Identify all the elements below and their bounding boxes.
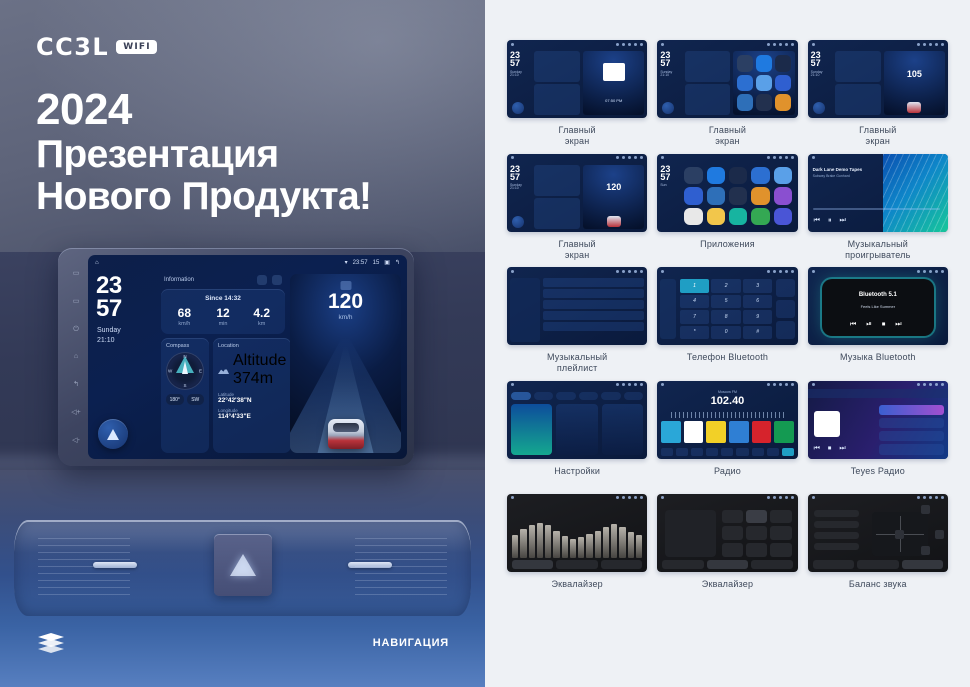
status-icons bbox=[767, 156, 794, 159]
preset-button[interactable] bbox=[770, 526, 791, 540]
equalizer-band[interactable] bbox=[586, 534, 592, 558]
screenshot-thumbnail[interactable]: 2357Sun bbox=[657, 154, 797, 232]
thumb-status-bar bbox=[657, 40, 797, 48]
wifi-icon bbox=[616, 156, 619, 159]
teyes-tabbar[interactable] bbox=[808, 389, 948, 398]
clock-icon bbox=[923, 43, 926, 46]
equalizer-band[interactable] bbox=[529, 525, 535, 557]
screenshot-thumbnail[interactable] bbox=[657, 494, 797, 572]
app-icon bbox=[775, 55, 791, 72]
preset-grid[interactable] bbox=[722, 510, 792, 557]
equalizer-band[interactable] bbox=[520, 529, 526, 558]
gallery-item[interactable]: Баланс звука bbox=[808, 494, 948, 601]
head-unit-side-keys[interactable]: ▭ ▭ ⏻ ⌂ ↰ ◁+ ◁- bbox=[66, 264, 86, 450]
back-icon bbox=[640, 270, 643, 273]
radio-preset[interactable] bbox=[774, 421, 794, 443]
speed-icon bbox=[340, 281, 351, 290]
status-icons bbox=[917, 383, 944, 386]
thumb-info-card bbox=[685, 51, 731, 82]
screenshot-thumbnail[interactable]: 2357Sunday 21:10 07:50 PM bbox=[507, 40, 647, 118]
thumb-status-bar bbox=[657, 381, 797, 389]
screenshot-icon bbox=[634, 156, 637, 159]
more-card[interactable] bbox=[602, 404, 643, 455]
volume-icon bbox=[779, 43, 782, 46]
balance-left-button[interactable] bbox=[895, 530, 904, 539]
screenshot-thumbnail[interactable]: Bluetooth 5.1 Feels Like Summer ⏮ ⏯ ⏹ ⏭ bbox=[808, 267, 948, 345]
gallery-item[interactable]: Музыкальныйплейлист bbox=[507, 267, 647, 375]
compass-widget[interactable]: Compass N E S W bbox=[161, 338, 209, 453]
volume-icon bbox=[929, 43, 932, 46]
track-title: Feels Like Summer bbox=[822, 304, 934, 309]
app-icon[interactable] bbox=[684, 187, 702, 205]
settings-tab[interactable] bbox=[534, 392, 554, 400]
gallery-item[interactable]: 2357Sunday 21:10 Главныйэкран bbox=[657, 40, 797, 148]
equalizer-band[interactable] bbox=[603, 527, 609, 557]
hero-heading: 2024 Презентация Нового Продукта! bbox=[36, 86, 371, 219]
list-icon[interactable] bbox=[272, 275, 282, 285]
balance-front-button[interactable] bbox=[921, 505, 930, 514]
screenshot-thumbnail[interactable] bbox=[507, 494, 647, 572]
thumb-nav-fab bbox=[512, 102, 524, 114]
key-power-icon[interactable]: ⏻ bbox=[73, 326, 79, 333]
status-icons bbox=[616, 43, 643, 46]
equalizer-band[interactable] bbox=[553, 531, 559, 558]
radio-presets[interactable] bbox=[661, 421, 793, 443]
thumb-body: 2357Sunday 21:10 bbox=[657, 48, 797, 118]
hero-footer: НАВИГАЦИЯ bbox=[0, 617, 485, 687]
preset-button[interactable] bbox=[722, 526, 743, 540]
preset-button[interactable] bbox=[722, 543, 743, 557]
status-home-icon[interactable]: ⌂ bbox=[95, 260, 99, 266]
app-icon[interactable] bbox=[774, 167, 792, 185]
app-icon[interactable] bbox=[751, 208, 769, 226]
gallery-item[interactable]: ⏮ ⏹ ⏭ Teyes Радио bbox=[808, 381, 948, 488]
back-icon bbox=[640, 496, 643, 499]
vent-slider-right bbox=[348, 562, 392, 568]
dialpad[interactable]: 123456789*0# bbox=[680, 279, 773, 339]
phone-sidebar[interactable] bbox=[660, 279, 675, 339]
dial-key[interactable]: # bbox=[743, 326, 773, 340]
thumbnail-caption: Эквалайзер bbox=[702, 579, 753, 601]
playlist-row[interactable] bbox=[543, 289, 645, 298]
screenshot-icon bbox=[935, 270, 938, 273]
key-mic-icon[interactable]: ▭ bbox=[73, 270, 80, 277]
previous-icon[interactable]: ⏮ bbox=[814, 217, 820, 225]
back-icon bbox=[791, 270, 794, 273]
gallery-item[interactable]: 2357Sunday 21:10 120 Главныйэкран bbox=[507, 154, 647, 262]
brand-logo-badge: WIFI bbox=[116, 40, 157, 54]
thumb-speed-panel: 105 bbox=[884, 51, 945, 115]
status-icons bbox=[767, 43, 794, 46]
altitude-row: Altitude 374m bbox=[218, 352, 286, 388]
equalizer-band[interactable] bbox=[595, 531, 601, 558]
speed-value: 120 bbox=[290, 291, 401, 312]
dial-key[interactable]: 0 bbox=[711, 326, 741, 340]
wifi-card[interactable] bbox=[511, 404, 552, 455]
fader-panel[interactable] bbox=[665, 510, 716, 557]
wifi-icon bbox=[917, 383, 920, 386]
screenshot-grid: 2357Sunday 21:10 07:50 PM Главныйэкран 2… bbox=[507, 40, 948, 601]
clock-icon bbox=[773, 270, 776, 273]
key-back-icon[interactable]: ↰ bbox=[73, 381, 79, 388]
thumb-widgets bbox=[685, 51, 731, 115]
gallery-item[interactable]: 123456789*0# Телефон Bluetooth bbox=[657, 267, 797, 375]
status-icons bbox=[917, 270, 944, 273]
eq-tab bbox=[601, 560, 642, 569]
key-volume-down-icon[interactable]: ◁- bbox=[72, 437, 80, 444]
thumbnail-caption: Музыка Bluetooth bbox=[840, 352, 916, 374]
screenshot-thumbnail[interactable]: 2357Sunday 21:10 bbox=[657, 40, 797, 118]
gallery-item[interactable]: Эквалайзер bbox=[507, 494, 647, 601]
screenshot-thumbnail[interactable]: 123456789*0# bbox=[657, 267, 797, 345]
thumb-compass-card bbox=[835, 84, 881, 115]
preset-button[interactable] bbox=[746, 543, 767, 557]
car-3d-model bbox=[907, 102, 921, 113]
toolbar-icon[interactable] bbox=[721, 448, 733, 456]
clock-icon bbox=[622, 156, 625, 159]
back-icon bbox=[941, 383, 944, 386]
trip-stat-unit: km bbox=[242, 321, 281, 327]
toolbar-icon[interactable] bbox=[782, 448, 794, 456]
back-icon bbox=[791, 383, 794, 386]
thumb-status-bar bbox=[808, 40, 948, 48]
wifi-icon bbox=[616, 270, 619, 273]
app-icon[interactable] bbox=[707, 208, 725, 226]
volume-icon bbox=[779, 270, 782, 273]
screenshot-icon bbox=[634, 43, 637, 46]
eq-tab bbox=[751, 560, 792, 569]
eq-tab bbox=[662, 560, 703, 569]
equalizer-band[interactable] bbox=[636, 535, 642, 557]
radio-tuning-scale[interactable] bbox=[671, 412, 783, 418]
app-icon[interactable] bbox=[729, 208, 747, 226]
playback-controls[interactable]: ⏮ ⏸ ⏭ bbox=[814, 217, 846, 225]
phone-actions[interactable] bbox=[776, 279, 794, 339]
eq-tab bbox=[857, 560, 898, 569]
settings-tab[interactable] bbox=[511, 392, 531, 400]
clock-icon bbox=[923, 383, 926, 386]
status-icons bbox=[616, 156, 643, 159]
gallery-item[interactable]: 2357Sunday 21:10 105 Главныйэкран bbox=[808, 40, 948, 148]
wifi-icon bbox=[917, 43, 920, 46]
settings-tab[interactable] bbox=[556, 392, 576, 400]
screenshot-thumbnail[interactable]: Moscow FM 102.40 bbox=[657, 381, 797, 459]
compass-east: E bbox=[199, 369, 202, 374]
screenshot-thumbnail[interactable]: Dark Lane Demo Tapes Subway Brake Gunhar… bbox=[808, 154, 948, 232]
track-title: Dark Lane Demo Tapes bbox=[813, 167, 882, 172]
playlist-sidebar[interactable] bbox=[510, 278, 540, 342]
key-volume-up-icon[interactable]: ◁+ bbox=[71, 409, 80, 416]
trip-stats: 68km/h 12min 4.2km bbox=[165, 307, 281, 327]
thumbnail-caption: Радио bbox=[714, 466, 741, 488]
thumb-body: 2357Sunday 21:10 07:50 PM bbox=[507, 48, 647, 118]
station-list[interactable] bbox=[879, 405, 944, 455]
trip-since-label: Since 14:32 bbox=[165, 295, 281, 302]
home-icon bbox=[511, 496, 514, 499]
speed-unit: km/h bbox=[290, 314, 401, 321]
volume-icon bbox=[779, 383, 782, 386]
contacts-icon bbox=[776, 300, 794, 318]
equalizer-band[interactable] bbox=[578, 537, 584, 557]
screenshot-thumbnail[interactable] bbox=[507, 267, 647, 345]
thumb-widgets bbox=[534, 51, 580, 115]
dial-key[interactable]: 3 bbox=[743, 279, 773, 293]
equalizer-band[interactable] bbox=[537, 523, 543, 558]
volume-icon bbox=[628, 270, 631, 273]
home-icon bbox=[661, 270, 664, 273]
back-icon bbox=[791, 43, 794, 46]
radio-toolbar[interactable] bbox=[661, 448, 793, 456]
home-icon bbox=[661, 156, 664, 159]
thumb-status-bar bbox=[808, 267, 948, 275]
volume-icon bbox=[628, 496, 631, 499]
toolbar-icon[interactable] bbox=[661, 448, 673, 456]
clock-icon bbox=[622, 43, 625, 46]
app-icon bbox=[737, 55, 753, 72]
thumb-status-bar bbox=[507, 494, 647, 502]
dial-key[interactable]: 8 bbox=[711, 310, 741, 324]
eq-tab bbox=[813, 560, 854, 569]
hazard-light-button[interactable] bbox=[214, 534, 272, 596]
station-row[interactable] bbox=[879, 418, 944, 428]
radio-preset[interactable] bbox=[684, 421, 704, 443]
toolbar-icon[interactable] bbox=[691, 448, 703, 456]
app-icon[interactable] bbox=[774, 208, 792, 226]
gallery-item[interactable]: 2357Sun Приложения bbox=[657, 154, 797, 262]
preset-button[interactable] bbox=[722, 510, 743, 524]
thumb-app-panel bbox=[733, 51, 794, 115]
equalizer-band[interactable] bbox=[611, 524, 617, 557]
clock-weekday: Sunday bbox=[94, 326, 156, 335]
equalizer-band[interactable] bbox=[628, 532, 634, 558]
playlist-row[interactable] bbox=[543, 311, 645, 320]
settings-tab[interactable] bbox=[601, 392, 621, 400]
equalizer-band[interactable] bbox=[570, 539, 576, 557]
playlist-row[interactable] bbox=[543, 322, 645, 331]
volume-icon bbox=[628, 43, 631, 46]
dial-key[interactable]: 2 bbox=[711, 279, 741, 293]
gear-icon[interactable] bbox=[257, 275, 267, 285]
clock-icon bbox=[773, 496, 776, 499]
hero-bottom-label: НАВИГАЦИЯ bbox=[373, 637, 449, 649]
balance-options[interactable] bbox=[814, 510, 859, 550]
thumbnail-caption: Главныйэкран bbox=[859, 125, 896, 148]
app-icon[interactable] bbox=[729, 167, 747, 185]
app-icon[interactable] bbox=[707, 187, 725, 205]
preset-button[interactable] bbox=[746, 510, 767, 524]
toolbar-icon[interactable] bbox=[706, 448, 718, 456]
gallery-item[interactable]: Dark Lane Demo Tapes Subway Brake Gunhar… bbox=[808, 154, 948, 262]
information-header: Information bbox=[161, 274, 285, 285]
thumb-status-bar bbox=[657, 154, 797, 162]
dial-key[interactable]: 7 bbox=[680, 310, 710, 324]
gallery-item[interactable]: Bluetooth 5.1 Feels Like Summer ⏮ ⏯ ⏹ ⏭ … bbox=[808, 267, 948, 375]
volume-icon bbox=[779, 496, 782, 499]
thumb-status-bar bbox=[657, 494, 797, 502]
screenshot-thumbnail[interactable] bbox=[507, 381, 647, 459]
hazard-triangle-icon bbox=[230, 554, 256, 576]
album-art bbox=[814, 411, 840, 437]
progress-bar[interactable] bbox=[813, 208, 940, 210]
settings-tabs[interactable] bbox=[511, 392, 643, 400]
latitude-value: 22°42'38"N bbox=[218, 397, 286, 404]
key-reset-icon[interactable]: ▭ bbox=[73, 298, 80, 305]
dial-key[interactable]: 9 bbox=[743, 310, 773, 324]
home-icon bbox=[511, 156, 514, 159]
compass-north: N bbox=[183, 354, 186, 359]
equalizer-tabs[interactable] bbox=[813, 560, 943, 569]
settings-tab[interactable] bbox=[579, 392, 599, 400]
app-icon bbox=[756, 75, 772, 92]
thumb-clock: 2357Sun bbox=[660, 165, 681, 229]
station-row[interactable] bbox=[879, 405, 944, 415]
gallery-item[interactable]: Эквалайзер bbox=[657, 494, 797, 601]
equalizer-band[interactable] bbox=[545, 525, 551, 557]
volume-icon bbox=[779, 156, 782, 159]
status-back-icon[interactable]: ↰ bbox=[395, 259, 400, 266]
app-icon[interactable] bbox=[751, 167, 769, 185]
head-unit-device: ▭ ▭ ⏻ ⌂ ↰ ◁+ ◁- ⌂ ▾ 23:57 15 bbox=[58, 248, 414, 466]
thumbnail-caption: Настройки bbox=[554, 466, 600, 488]
clock-odo: 21:10 bbox=[94, 336, 156, 345]
thumb-status-bar bbox=[507, 381, 647, 389]
home-icon bbox=[661, 43, 664, 46]
wifi-icon bbox=[767, 156, 770, 159]
radio-preset[interactable] bbox=[729, 421, 749, 443]
screenshot-thumbnail[interactable]: 2357Sunday 21:10 120 bbox=[507, 154, 647, 232]
trip-information-card: Since 14:32 68km/h 12min 4.2km bbox=[161, 289, 285, 334]
eq-tab bbox=[902, 560, 943, 569]
wifi-icon bbox=[616, 383, 619, 386]
settings-tab[interactable] bbox=[624, 392, 644, 400]
dial-key[interactable]: 5 bbox=[711, 295, 741, 309]
screenshot-icon bbox=[634, 496, 637, 499]
screenshot-icon bbox=[634, 270, 637, 273]
wifi-icon bbox=[767, 383, 770, 386]
app-icon bbox=[775, 75, 791, 92]
status-icons bbox=[616, 496, 643, 499]
next-icon[interactable]: ⏭ bbox=[839, 217, 845, 225]
screenshot-thumbnail[interactable] bbox=[808, 494, 948, 572]
location-widget[interactable]: Location Altitude 374m bbox=[213, 338, 291, 453]
toolbar-icon[interactable] bbox=[767, 448, 779, 456]
trip-stat: 12min bbox=[204, 307, 243, 327]
toolbar-icon[interactable] bbox=[676, 448, 688, 456]
volume-icon bbox=[929, 270, 932, 273]
navigation-fab-button[interactable] bbox=[98, 419, 128, 449]
app-shortcuts bbox=[737, 55, 790, 111]
station-row[interactable] bbox=[879, 431, 944, 441]
thumb-status-bar bbox=[507, 267, 647, 275]
widgets-row: Compass N E S W bbox=[161, 338, 285, 453]
hero-year: 2024 bbox=[36, 86, 371, 134]
carplay-card[interactable] bbox=[556, 404, 597, 455]
gallery-item[interactable]: Moscow FM 102.40 Радио bbox=[657, 381, 797, 488]
equalizer-tabs[interactable] bbox=[662, 560, 792, 569]
volume-icon bbox=[929, 383, 932, 386]
pause-icon[interactable]: ⏸ bbox=[828, 217, 832, 225]
balance-rear-button[interactable] bbox=[921, 546, 930, 555]
screenshot-thumbnail[interactable]: 2357Sunday 21:10 105 bbox=[808, 40, 948, 118]
wifi-icon bbox=[767, 496, 770, 499]
dial-key[interactable]: 6 bbox=[743, 295, 773, 309]
layers-stack-icon bbox=[38, 633, 64, 653]
app-icon[interactable] bbox=[707, 167, 725, 185]
radio-preset[interactable] bbox=[661, 421, 681, 443]
thumb-nav-fab bbox=[813, 102, 825, 114]
preset-button[interactable] bbox=[770, 510, 791, 524]
trip-stat-value: 68 bbox=[165, 307, 204, 319]
equalizer-band[interactable] bbox=[562, 536, 568, 557]
app-icon[interactable] bbox=[684, 167, 702, 185]
hero-title-line2: Нового Продукта! bbox=[36, 176, 371, 219]
clock-icon bbox=[622, 270, 625, 273]
screenshot-thumbnail[interactable]: ⏮ ⏹ ⏭ bbox=[808, 381, 948, 459]
home-icon bbox=[511, 43, 514, 46]
app-icon[interactable] bbox=[684, 208, 702, 226]
dial-key[interactable]: 1 bbox=[680, 279, 710, 293]
longitude-value: 114°4'33"E bbox=[218, 413, 286, 420]
radio-preset[interactable] bbox=[752, 421, 772, 443]
gallery-item[interactable]: 2357Sunday 21:10 07:50 PM Главныйэкран bbox=[507, 40, 647, 148]
equalizer-band[interactable] bbox=[512, 535, 518, 557]
status-wifi-icon: ▾ bbox=[345, 259, 348, 266]
toolbar-icon[interactable] bbox=[736, 448, 748, 456]
app-icon[interactable] bbox=[729, 187, 747, 205]
screenshot-icon bbox=[785, 156, 788, 159]
latitude-row: Latitude 22°42'38"N bbox=[218, 392, 286, 404]
equalizer-tabs[interactable] bbox=[512, 560, 642, 569]
head-unit-screen[interactable]: ⌂ ▾ 23:57 15 ▣ ↰ 23 57 Su bbox=[88, 255, 407, 459]
home-icon bbox=[511, 383, 514, 386]
call-icon bbox=[776, 321, 794, 339]
gallery-item[interactable]: Настройки bbox=[507, 381, 647, 488]
key-home-icon[interactable]: ⌂ bbox=[74, 353, 78, 360]
thumb-status-bar bbox=[507, 40, 647, 48]
hero-title-line1: Презентация bbox=[36, 134, 371, 177]
volume-icon bbox=[628, 383, 631, 386]
thumbnail-caption: Главныйэкран bbox=[709, 125, 746, 148]
thumb-media-panel: 07:50 PM bbox=[583, 51, 644, 115]
dial-key[interactable]: 4 bbox=[680, 295, 710, 309]
station-row[interactable] bbox=[879, 444, 944, 454]
preset-button[interactable] bbox=[746, 526, 767, 540]
playlist-row[interactable] bbox=[543, 300, 645, 309]
playlist-row[interactable] bbox=[543, 278, 645, 287]
preset-button[interactable] bbox=[770, 543, 791, 557]
radio-preset[interactable] bbox=[706, 421, 726, 443]
status-icons bbox=[616, 270, 643, 273]
presentation-page: CC3L WIFI 2024 Презентация Нового Продук… bbox=[0, 0, 970, 687]
wifi-icon bbox=[616, 43, 619, 46]
playback-controls[interactable]: ⏮ ⏯ ⏹ ⏭ bbox=[822, 321, 934, 329]
status-screenshot-icon[interactable]: ▣ bbox=[384, 259, 390, 266]
app-icon[interactable] bbox=[774, 187, 792, 205]
status-right-group: ▾ 23:57 15 ▣ ↰ bbox=[345, 259, 400, 266]
status-time: 23:57 bbox=[353, 260, 368, 266]
wifi-icon bbox=[616, 496, 619, 499]
app-icon[interactable] bbox=[751, 187, 769, 205]
balance-right-button[interactable] bbox=[935, 530, 944, 539]
dial-key[interactable]: * bbox=[680, 326, 710, 340]
thumb-info-card bbox=[534, 165, 580, 196]
playback-controls[interactable]: ⏮ ⏹ ⏭ bbox=[814, 445, 849, 453]
speed-widget[interactable]: 120 km/h bbox=[290, 274, 401, 453]
widgets-column: Information Since 14:32 68km/h bbox=[161, 274, 285, 453]
toolbar-icon[interactable] bbox=[752, 448, 764, 456]
equalizer-band[interactable] bbox=[619, 527, 625, 557]
equalizer-bars[interactable] bbox=[512, 512, 642, 558]
